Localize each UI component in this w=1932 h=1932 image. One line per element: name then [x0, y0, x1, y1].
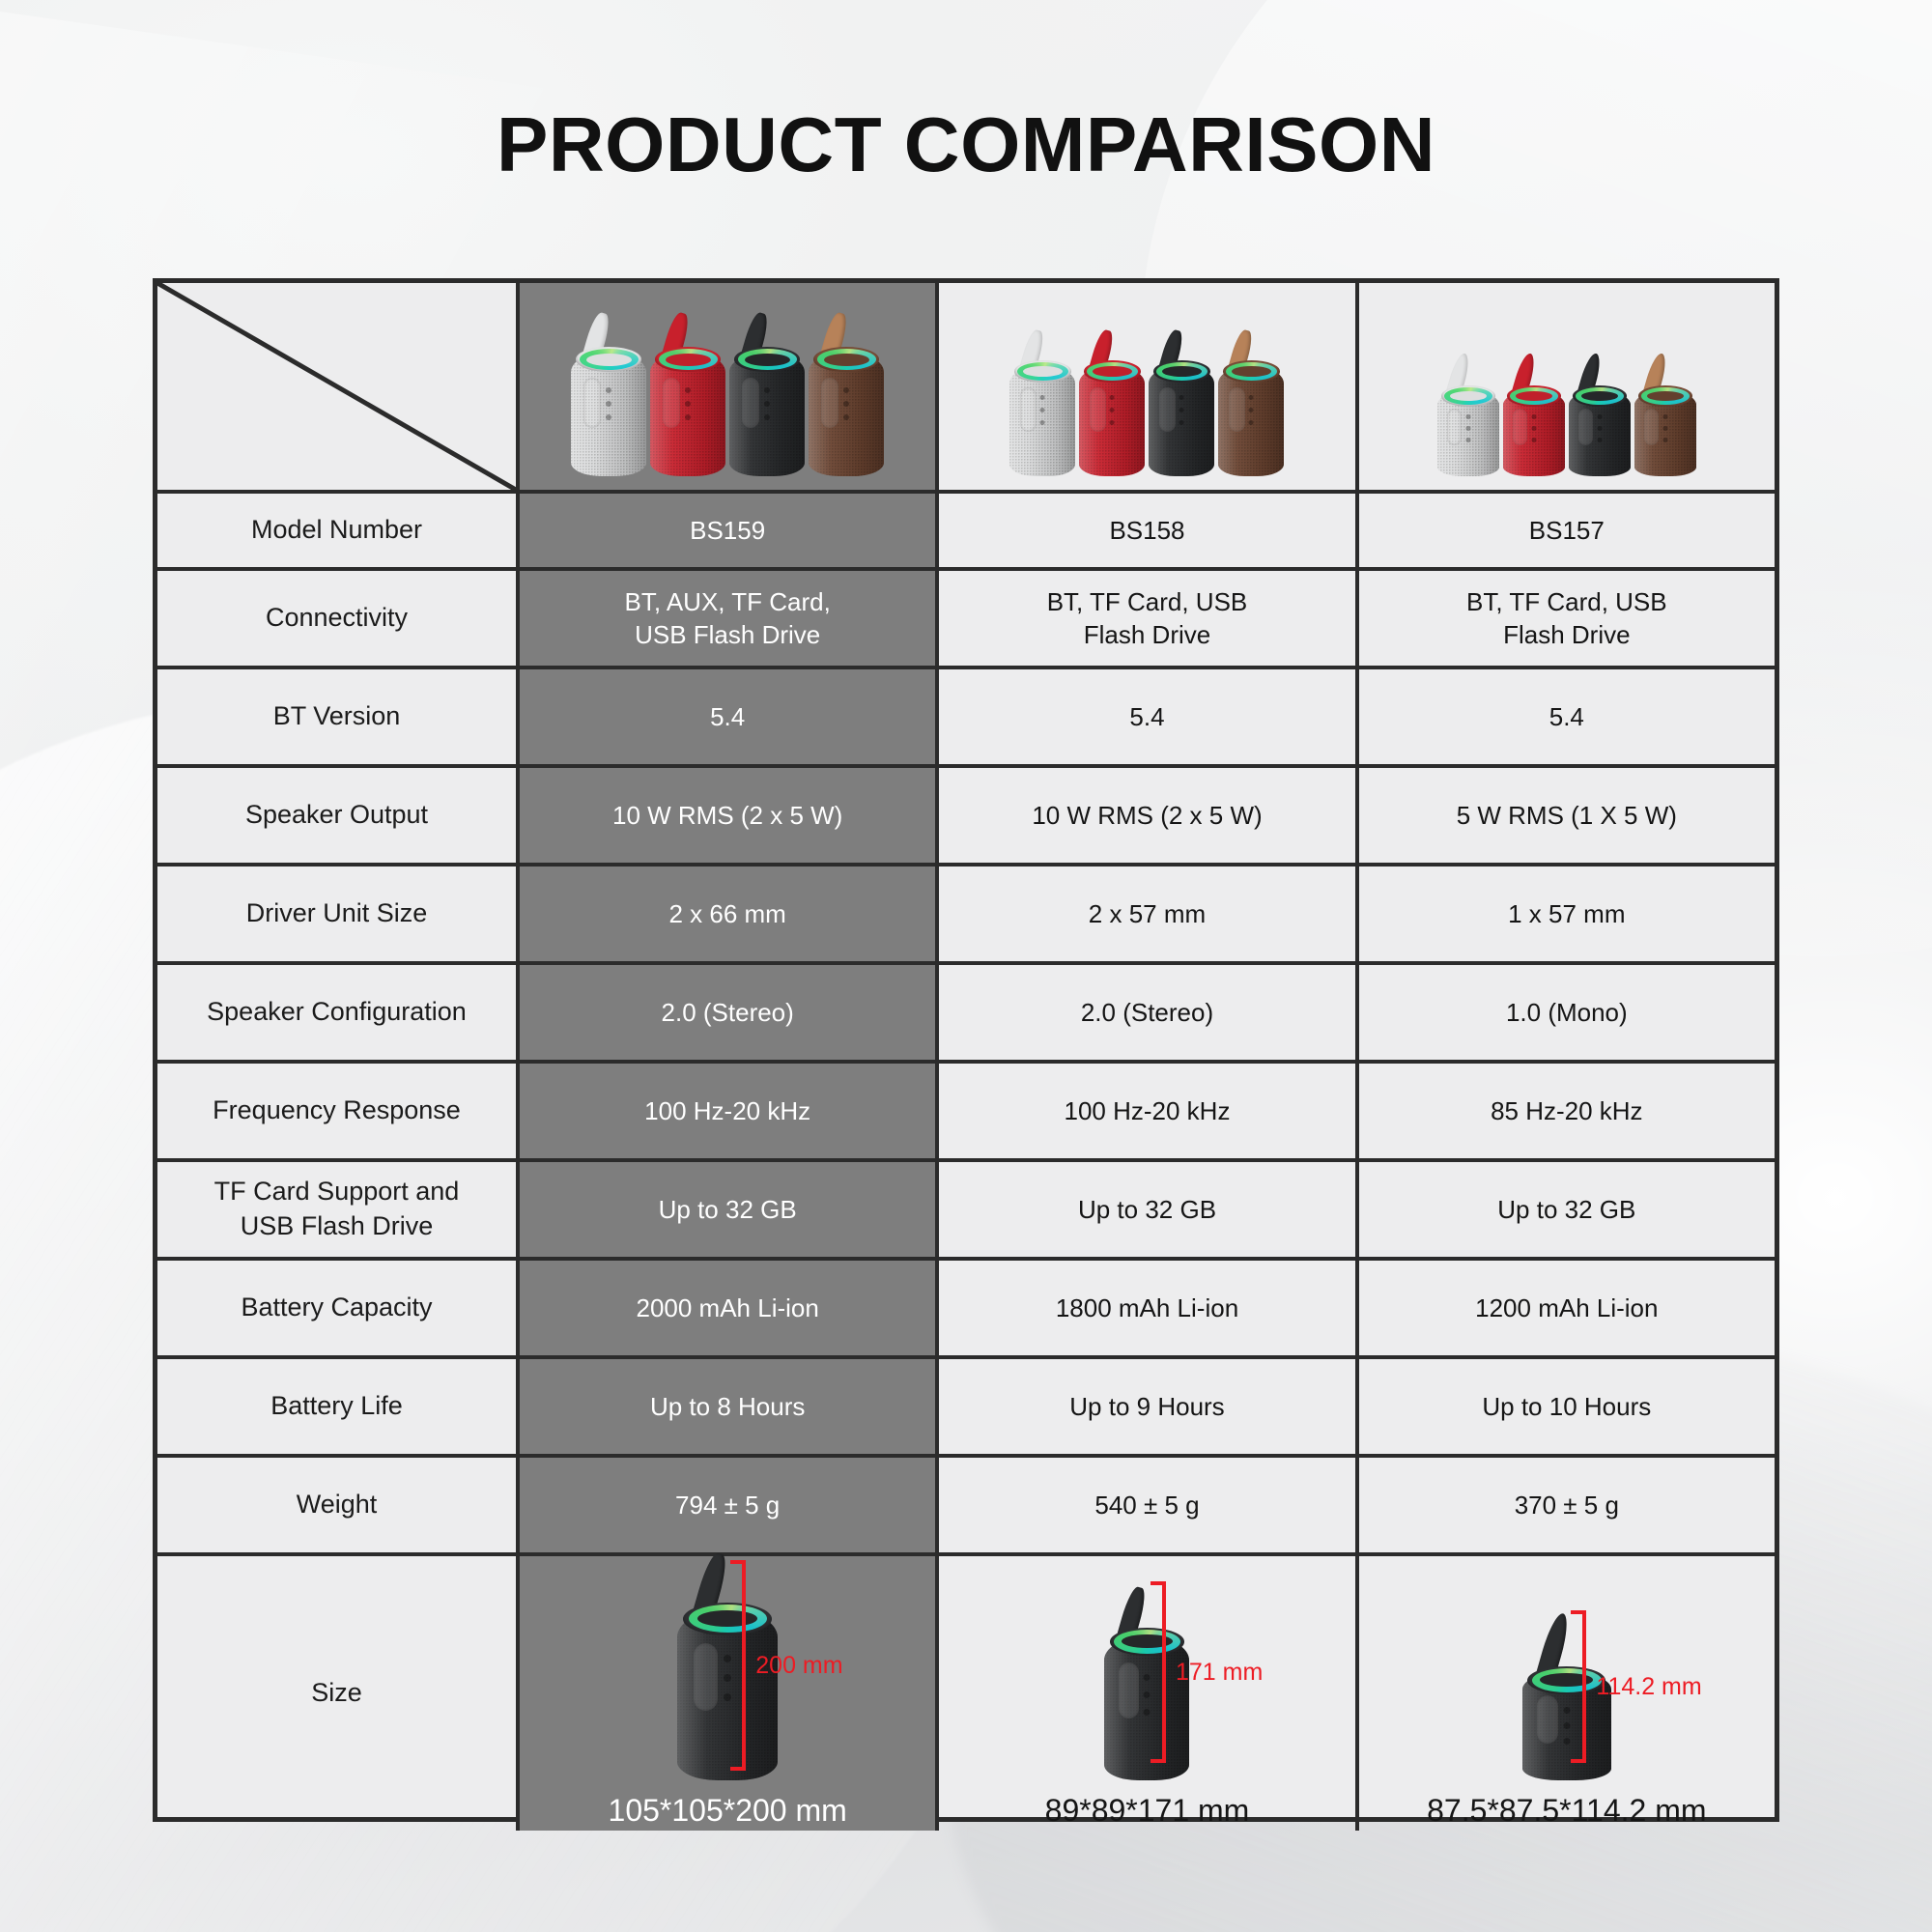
row-label-text: BT Version	[273, 699, 401, 734]
cell-bt-version-bs157: 5.4	[1359, 669, 1775, 764]
header-cell-bs159	[520, 283, 939, 490]
speaker-black-icon	[729, 314, 805, 476]
cell-battery-life-bs157: Up to 10 Hours	[1359, 1359, 1775, 1454]
speaker-black-icon	[1569, 356, 1631, 476]
speaker-red-icon	[650, 314, 725, 476]
cell-speaker-output-bs157: 5 W RMS (1 X 5 W)	[1359, 768, 1775, 863]
cell-model-number-bs159: BS159	[520, 494, 939, 567]
cell-frequency-response-bs159: 100 Hz-20 kHz	[520, 1064, 939, 1158]
row-label-speaker-output: Speaker Output	[157, 768, 520, 863]
cell-weight-bs158: 540 ± 5 g	[939, 1458, 1358, 1552]
cell-size-bs159: 200 mm 105*105*200 mm	[520, 1556, 939, 1831]
bracket-icon	[730, 1560, 746, 1771]
dimension-value: 171 mm	[1176, 1657, 1263, 1689]
row-label-text: TF Card Support andUSB Flash Drive	[214, 1175, 460, 1243]
speaker-white-icon	[1437, 356, 1499, 476]
cell-frequency-response-bs158: 100 Hz-20 kHz	[939, 1064, 1358, 1158]
cell-tf-card-support-bs158: Up to 32 GB	[939, 1162, 1358, 1257]
table-row: Weight 794 ± 5 g 540 ± 5 g 370 ± 5 g	[157, 1458, 1775, 1556]
cell-battery-life-bs159: Up to 8 Hours	[520, 1359, 939, 1454]
cell-model-number-bs157: BS157	[1359, 494, 1775, 567]
corner-diagonal-line	[157, 283, 516, 490]
speaker-red-icon	[1503, 356, 1565, 476]
cell-battery-capacity-bs158: 1800 mAh Li-ion	[939, 1261, 1358, 1355]
cell-speaker-output-bs158: 10 W RMS (2 x 5 W)	[939, 768, 1358, 863]
speaker-brown-icon	[1634, 356, 1696, 476]
product-lineup-bs159	[520, 283, 935, 490]
size-caption-bs157: 87.5*87.5*114.2 mm	[1427, 1790, 1706, 1831]
row-label-speaker-configuration: Speaker Configuration	[157, 965, 520, 1060]
cell-weight-bs157: 370 ± 5 g	[1359, 1458, 1775, 1552]
cell-bt-version-bs158: 5.4	[939, 669, 1358, 764]
table-row: Driver Unit Size 2 x 66 mm 2 x 57 mm 1 x…	[157, 867, 1775, 965]
speaker-white-icon	[1009, 331, 1075, 476]
table-row: Battery Capacity 2000 mAh Li-ion 1800 mA…	[157, 1261, 1775, 1359]
cell-speaker-configuration-bs158: 2.0 (Stereo)	[939, 965, 1358, 1060]
row-label-text: Frequency Response	[213, 1094, 461, 1128]
row-label-text: Battery Life	[270, 1389, 403, 1424]
cell-connectivity-bs157: BT, TF Card, USBFlash Drive	[1359, 571, 1775, 666]
speaker-white-icon	[571, 314, 646, 476]
cell-connectivity-bs159: BT, AUX, TF Card,USB Flash Drive	[520, 571, 939, 666]
row-label-size: Size	[157, 1556, 520, 1831]
row-label-text: Weight	[297, 1488, 378, 1522]
cell-speaker-output-bs159: 10 W RMS (2 x 5 W)	[520, 768, 939, 863]
comparison-table: Model Number BS159 BS158 BS157 Connectiv…	[153, 278, 1779, 1822]
table-row: Connectivity BT, AUX, TF Card,USB Flash …	[157, 571, 1775, 669]
dimension-value: 200 mm	[755, 1650, 842, 1682]
dimension-callout-bs159: 200 mm	[730, 1560, 842, 1771]
dimension-callout-bs158: 171 mm	[1151, 1581, 1263, 1763]
row-label-battery-capacity: Battery Capacity	[157, 1261, 520, 1355]
cell-driver-unit-size-bs157: 1 x 57 mm	[1359, 867, 1775, 961]
row-label-text: Speaker Output	[245, 798, 428, 833]
row-label-tf-card-support: TF Card Support andUSB Flash Drive	[157, 1162, 520, 1257]
table-row: Speaker Configuration 2.0 (Stereo) 2.0 (…	[157, 965, 1775, 1064]
size-illustration-bs159: 200 mm	[677, 1556, 778, 1780]
row-label-text: Speaker Configuration	[207, 995, 467, 1030]
size-caption-bs159: 105*105*200 mm	[609, 1790, 847, 1831]
cell-tf-card-support-bs159: Up to 32 GB	[520, 1162, 939, 1257]
bracket-icon	[1571, 1610, 1586, 1763]
row-label-text: Size	[311, 1676, 362, 1711]
row-label-text: Connectivity	[266, 601, 408, 636]
cell-bt-version-bs159: 5.4	[520, 669, 939, 764]
dimension-callout-bs157: 114.2 mm	[1571, 1610, 1701, 1763]
cell-battery-capacity-bs159: 2000 mAh Li-ion	[520, 1261, 939, 1355]
row-label-bt-version: BT Version	[157, 669, 520, 764]
size-illustration-bs157: 114.2 mm	[1522, 1556, 1611, 1780]
cell-connectivity-bs158: BT, TF Card, USBFlash Drive	[939, 571, 1358, 666]
row-label-text: Model Number	[251, 513, 422, 548]
speaker-brown-icon	[1218, 331, 1284, 476]
row-label-model-number: Model Number	[157, 494, 520, 567]
cell-frequency-response-bs157: 85 Hz-20 kHz	[1359, 1064, 1775, 1158]
speaker-black-icon	[1149, 331, 1214, 476]
row-label-battery-life: Battery Life	[157, 1359, 520, 1454]
bracket-icon	[1151, 1581, 1166, 1763]
cell-weight-bs159: 794 ± 5 g	[520, 1458, 939, 1552]
size-caption-bs158: 89*89*171 mm	[1045, 1790, 1250, 1831]
cell-driver-unit-size-bs158: 2 x 57 mm	[939, 867, 1358, 961]
product-lineup-bs158	[939, 283, 1354, 490]
cell-tf-card-support-bs157: Up to 32 GB	[1359, 1162, 1775, 1257]
cell-speaker-configuration-bs159: 2.0 (Stereo)	[520, 965, 939, 1060]
header-cell-bs157	[1359, 283, 1775, 490]
table-row: BT Version 5.4 5.4 5.4	[157, 669, 1775, 768]
cell-size-bs157: 114.2 mm 87.5*87.5*114.2 mm	[1359, 1556, 1775, 1831]
row-label-driver-unit-size: Driver Unit Size	[157, 867, 520, 961]
row-label-connectivity: Connectivity	[157, 571, 520, 666]
speaker-red-icon	[1079, 331, 1145, 476]
cell-driver-unit-size-bs159: 2 x 66 mm	[520, 867, 939, 961]
corner-cell	[157, 283, 520, 490]
table-row: Frequency Response 100 Hz-20 kHz 100 Hz-…	[157, 1064, 1775, 1162]
product-lineup-bs157	[1359, 283, 1775, 490]
cell-model-number-bs158: BS158	[939, 494, 1358, 567]
cell-battery-life-bs158: Up to 9 Hours	[939, 1359, 1358, 1454]
table-row: Model Number BS159 BS158 BS157	[157, 494, 1775, 571]
page-title: PRODUCT COMPARISON	[0, 100, 1932, 189]
table-header-row	[157, 283, 1775, 494]
speaker-brown-icon	[809, 314, 884, 476]
size-illustration-bs158: 171 mm	[1104, 1556, 1189, 1780]
dimension-value: 114.2 mm	[1596, 1671, 1701, 1703]
cell-size-bs158: 171 mm 89*89*171 mm	[939, 1556, 1358, 1831]
table-row: Battery Life Up to 8 Hours Up to 9 Hours…	[157, 1359, 1775, 1458]
row-label-text: Battery Capacity	[241, 1291, 432, 1325]
table-row: Speaker Output 10 W RMS (2 x 5 W) 10 W R…	[157, 768, 1775, 867]
row-label-text: Driver Unit Size	[246, 896, 428, 931]
table-row-size: Size 200 mm 105*105*200 mm	[157, 1556, 1775, 1831]
row-label-frequency-response: Frequency Response	[157, 1064, 520, 1158]
cell-speaker-configuration-bs157: 1.0 (Mono)	[1359, 965, 1775, 1060]
cell-battery-capacity-bs157: 1200 mAh Li-ion	[1359, 1261, 1775, 1355]
header-cell-bs158	[939, 283, 1358, 490]
row-label-weight: Weight	[157, 1458, 520, 1552]
table-row: TF Card Support andUSB Flash Drive Up to…	[157, 1162, 1775, 1261]
